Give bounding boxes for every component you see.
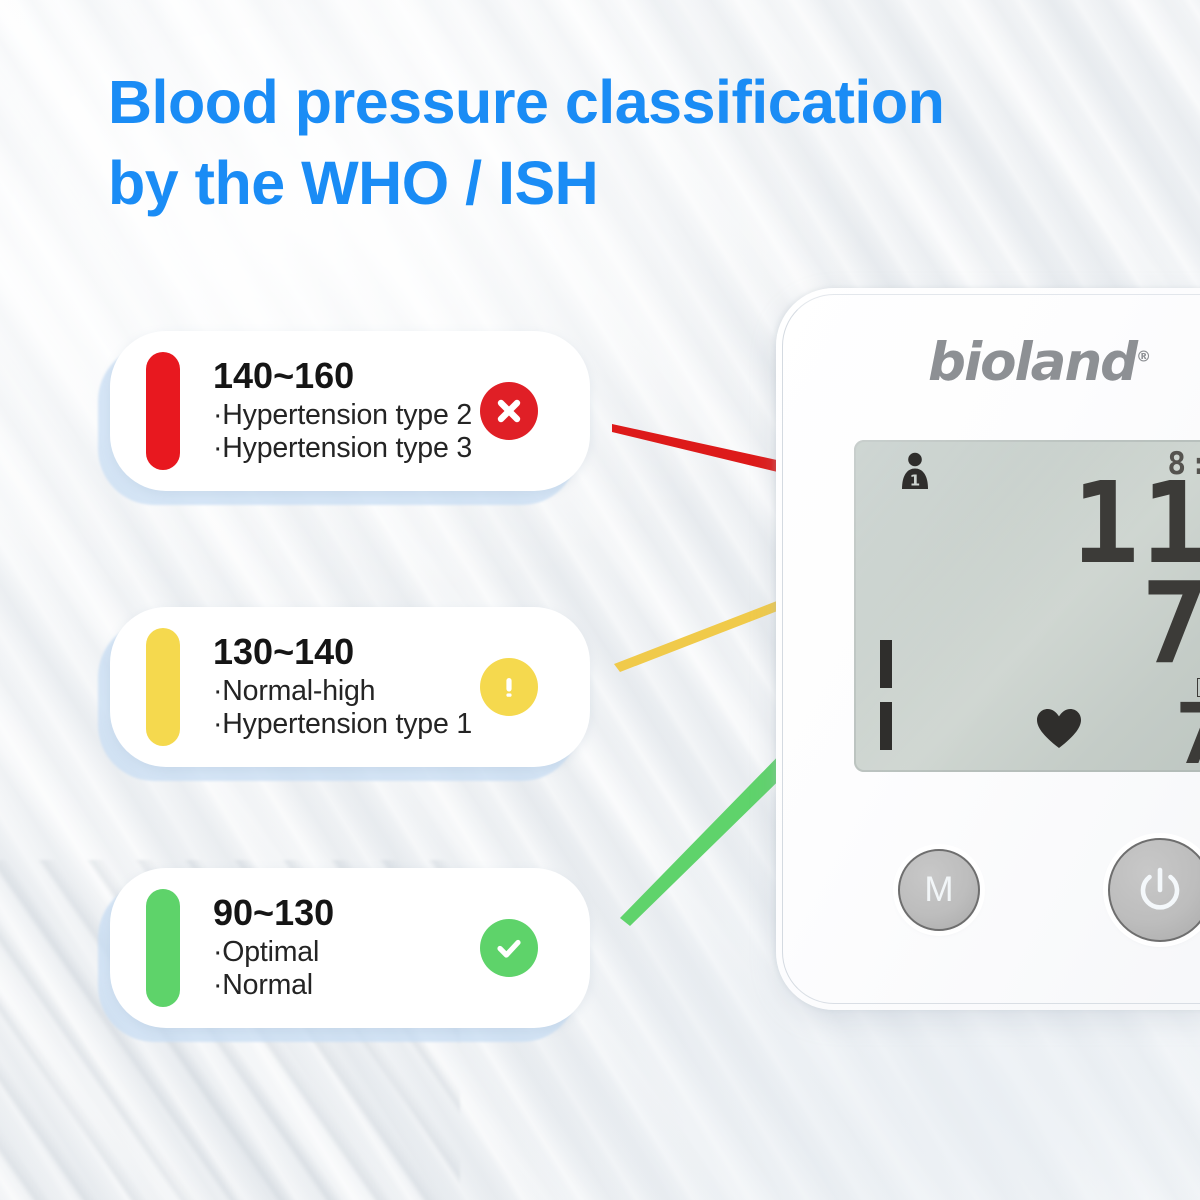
exclamation-icon — [480, 658, 538, 716]
card-body[interactable]: 90~130 ·Optimal ·Normal — [110, 868, 590, 1028]
card-detail-line: ·Hypertension type 3 — [213, 432, 474, 466]
severity-bar-green — [146, 889, 180, 1007]
classification-card-high: 140~160 ·Hypertension type 2 ·Hypertensi… — [110, 331, 590, 491]
user-profile-icon: 1 — [898, 452, 932, 495]
lcd-screen: 1 8:30 115 78 mmHg 78 — [854, 440, 1200, 772]
severity-bar-yellow — [146, 628, 180, 746]
card-body[interactable]: 130~140 ·Normal-high ·Hypertension type … — [110, 607, 590, 767]
memory-button-label: M — [924, 870, 953, 910]
check-mark-icon — [480, 919, 538, 977]
card-detail-line: ·Normal — [213, 969, 474, 1003]
card-detail-line: ·Hypertension type 1 — [213, 708, 474, 742]
card-range-label: 140~160 — [213, 356, 474, 396]
classification-card-borderline: 130~140 ·Normal-high ·Hypertension type … — [110, 607, 590, 767]
memory-button[interactable]: M — [898, 849, 980, 931]
lcd-diastolic-value: 78 — [1141, 568, 1200, 680]
card-detail-line: ·Optimal — [213, 936, 474, 970]
registered-trademark-icon: ® — [1136, 347, 1151, 365]
severity-bar-red — [146, 352, 180, 470]
brand-logo-text: bioland — [928, 332, 1136, 393]
card-range-label: 90~130 — [213, 893, 474, 933]
infographic-canvas: Blood pressure classification by the WHO… — [0, 0, 1200, 1200]
card-text-block: 130~140 ·Normal-high ·Hypertension type … — [213, 632, 480, 742]
x-mark-icon — [480, 382, 538, 440]
heart-icon — [1036, 708, 1082, 755]
card-detail-line: ·Normal-high — [213, 675, 474, 709]
brand-logo: bioland® — [928, 332, 1151, 393]
power-icon — [1133, 863, 1187, 917]
card-body[interactable]: 140~160 ·Hypertension type 2 ·Hypertensi… — [110, 331, 590, 491]
card-detail-line: ·Hypertension type 2 — [213, 399, 474, 433]
card-text-block: 140~160 ·Hypertension type 2 ·Hypertensi… — [213, 356, 480, 466]
page-title: Blood pressure classification by the WHO… — [108, 62, 1138, 223]
card-text-block: 90~130 ·Optimal ·Normal — [213, 893, 480, 1003]
card-range-label: 130~140 — [213, 632, 474, 672]
lcd-pulse-value: 78 — [1175, 692, 1200, 772]
lcd-indicator-bar-lower — [880, 702, 892, 750]
lcd-indicator-bar-upper — [880, 640, 892, 688]
user-number-label: 1 — [910, 472, 920, 490]
classification-card-normal: 90~130 ·Optimal ·Normal — [110, 868, 590, 1028]
